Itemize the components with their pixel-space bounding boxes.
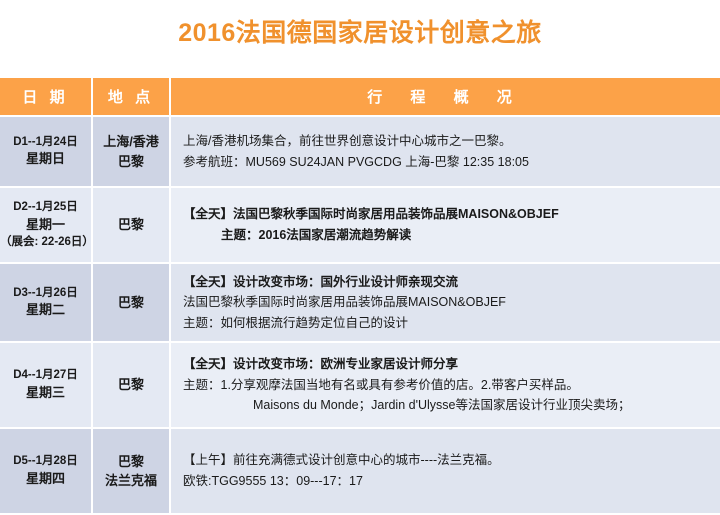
date-weekday: 星期一 [0, 216, 91, 235]
title-bar: 2016法国德国家居设计创意之旅 [0, 0, 720, 78]
column-header-date: 日 期 [0, 78, 92, 116]
date-weekday: 星期三 [0, 384, 91, 403]
description-line: Maisons du Monde；Jardin d'Ulysse等法国家居设计行… [183, 395, 720, 416]
place-line-1: 上海/香港 [93, 132, 169, 152]
date-code: D3--1月26日 [0, 285, 91, 302]
date-code: D5--1月28日 [0, 453, 91, 470]
description-line: 【全天】设计改变市场：欧洲专业家居设计师分享 [183, 354, 720, 375]
description-line: 法国巴黎秋季国际时尚家居用品装饰品展MAISON&OBJEF [183, 292, 720, 313]
description-line: 【上午】前往充满德式设计创意中心的城市----法兰克福。 [183, 450, 720, 471]
column-header-description: 行 程 概 况 [170, 78, 720, 116]
cell-place: 巴黎 [92, 342, 170, 428]
place-line-2: 法兰克福 [93, 471, 169, 491]
place-line-1: 巴黎 [93, 293, 169, 313]
description-line: 参考航班：MU569 SU24JAN PVGCDG 上海-巴黎 12:35 18… [183, 152, 720, 173]
place-line-1: 巴黎 [93, 452, 169, 472]
date-code: D2--1月25日 [0, 199, 91, 216]
table-row: D2--1月25日 星期一 （展会: 22-26日） 巴黎 【全天】法国巴黎秋季… [0, 187, 720, 263]
place-line-2: 巴黎 [93, 152, 169, 172]
place-line-1: 巴黎 [93, 215, 169, 235]
cell-date: D3--1月26日 星期二 [0, 263, 92, 342]
place-line-1: 巴黎 [93, 375, 169, 395]
date-weekday: 星期四 [0, 470, 91, 489]
table-body: D1--1月24日 星期日 上海/香港 巴黎 上海/香港机场集合，前往世界创意设… [0, 116, 720, 514]
table-row: D4--1月27日 星期三 巴黎 【全天】设计改变市场：欧洲专业家居设计师分享 … [0, 342, 720, 428]
cell-date: D4--1月27日 星期三 [0, 342, 92, 428]
description-line: 上海/香港机场集合，前往世界创意设计中心城市之一巴黎。 [183, 131, 720, 152]
date-code: D4--1月27日 [0, 367, 91, 384]
cell-date: D2--1月25日 星期一 （展会: 22-26日） [0, 187, 92, 263]
page-title: 2016法国德国家居设计创意之旅 [178, 21, 542, 58]
table-header-row: 日 期 地 点 行 程 概 况 [0, 78, 720, 116]
date-weekday: 星期二 [0, 301, 91, 320]
table-header: 日 期 地 点 行 程 概 况 [0, 78, 720, 116]
description-line: 【全天】法国巴黎秋季国际时尚家居用品装饰品展MAISON&OBJEF [183, 204, 720, 225]
cell-date: D5--1月28日 星期四 [0, 428, 92, 514]
cell-place: 巴黎 [92, 187, 170, 263]
description-line: 【全天】设计改变市场：国外行业设计师亲现交流 [183, 272, 720, 293]
cell-description: 【全天】法国巴黎秋季国际时尚家居用品装饰品展MAISON&OBJEF 主题：20… [170, 187, 720, 263]
date-weekday: 星期日 [0, 150, 91, 169]
date-code: D1--1月24日 [0, 134, 91, 151]
description-line: 主题：如何根据流行趋势定位自己的设计 [183, 313, 720, 334]
cell-place: 巴黎 [92, 263, 170, 342]
description-line: 欧铁:TGG9555 13：09---17：17 [183, 471, 720, 492]
cell-description: 【全天】设计改变市场：国外行业设计师亲现交流 法国巴黎秋季国际时尚家居用品装饰品… [170, 263, 720, 342]
itinerary-page: 2016法国德国家居设计创意之旅 日 期 地 点 行 程 概 况 D1--1月2… [0, 0, 720, 514]
cell-description: 【全天】设计改变市场：欧洲专业家居设计师分享 主题：1.分享观摩法国当地有名或具… [170, 342, 720, 428]
date-note: （展会: 22-26日） [0, 234, 91, 251]
cell-place: 巴黎 法兰克福 [92, 428, 170, 514]
description-line: 主题：1.分享观摩法国当地有名或具有参考价值的店。2.带客户买样品。 [183, 375, 720, 396]
cell-description: 上海/香港机场集合，前往世界创意设计中心城市之一巴黎。 参考航班：MU569 S… [170, 116, 720, 187]
table-row: D1--1月24日 星期日 上海/香港 巴黎 上海/香港机场集合，前往世界创意设… [0, 116, 720, 187]
table-row: D5--1月28日 星期四 巴黎 法兰克福 【上午】前往充满德式设计创意中心的城… [0, 428, 720, 514]
cell-place: 上海/香港 巴黎 [92, 116, 170, 187]
itinerary-table: 日 期 地 点 行 程 概 况 D1--1月24日 星期日 上海/香港 巴黎 上… [0, 78, 720, 515]
column-header-place: 地 点 [92, 78, 170, 116]
cell-description: 【上午】前往充满德式设计创意中心的城市----法兰克福。 欧铁:TGG9555 … [170, 428, 720, 514]
cell-date: D1--1月24日 星期日 [0, 116, 92, 187]
description-line: 主题：2016法国家居潮流趋势解读 [183, 225, 720, 246]
table-row: D3--1月26日 星期二 巴黎 【全天】设计改变市场：国外行业设计师亲现交流 … [0, 263, 720, 342]
